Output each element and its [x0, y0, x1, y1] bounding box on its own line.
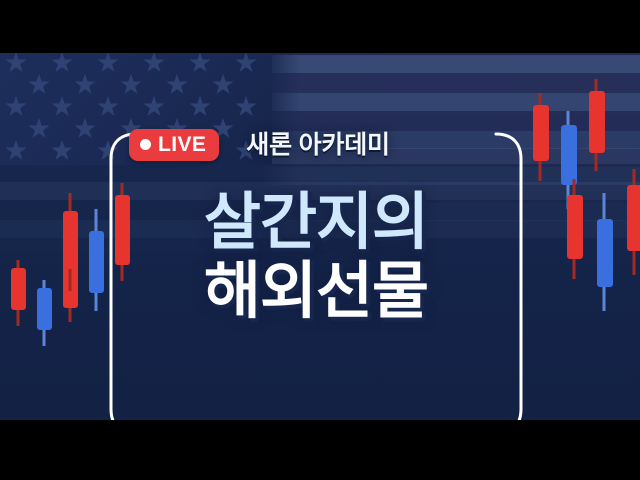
letterbox-bottom	[0, 420, 640, 480]
candlestick-chart-right-lower	[556, 163, 640, 343]
title-line-2: 해외선물	[204, 259, 428, 324]
content-area: LIVE 새론 아카데미 살간지의 해외선물	[0, 53, 640, 420]
live-badge[interactable]: LIVE	[129, 129, 219, 161]
letterbox-top	[0, 0, 640, 53]
header-row: LIVE 새론 아카데미	[129, 129, 390, 161]
thumbnail-stage: LIVE 새론 아카데미 살간지의 해외선물	[0, 0, 640, 480]
title-line-1: 살간지의	[204, 190, 428, 255]
live-dot-icon	[140, 139, 151, 150]
live-badge-label: LIVE	[158, 134, 206, 155]
brand-name: 새론 아카데미	[246, 133, 390, 158]
title-block: 살간지의 해외선물	[110, 190, 522, 324]
